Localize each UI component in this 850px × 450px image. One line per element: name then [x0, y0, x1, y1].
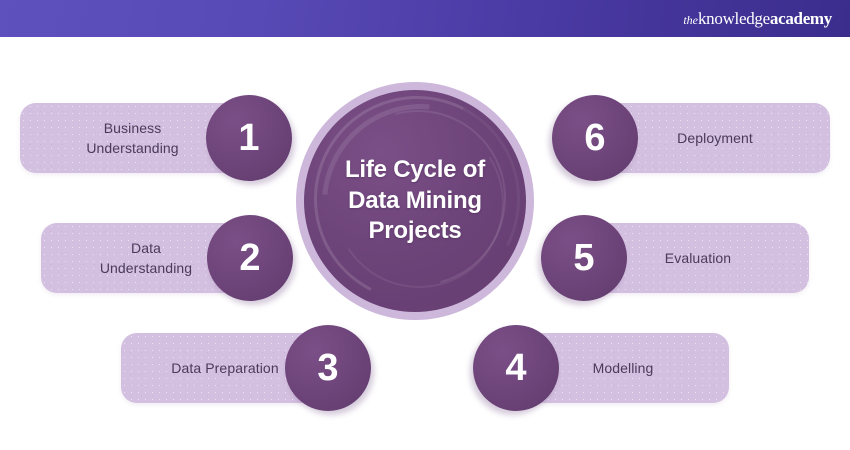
step-label-2-line-1: Data — [131, 240, 161, 256]
diagram-title-line-2: Data Mining — [348, 186, 482, 216]
step-badge-3[interactable]: 3 — [285, 325, 371, 411]
diagram-title: Life Cycle of Data Mining Projects — [304, 90, 526, 312]
step-badge-2[interactable]: 2 — [207, 215, 293, 301]
brand-logo: theknowledgeacademy — [683, 10, 832, 28]
step-item-3[interactable]: Data Preparation 3 — [121, 325, 371, 411]
step-item-2[interactable]: Data Understanding 2 — [41, 215, 293, 301]
diagram-canvas: Life Cycle of Data Mining Projects Busin… — [0, 37, 850, 450]
step-label-1-line-1: Business — [104, 120, 162, 136]
infographic-page: theknowledgeacademy Life Cycle of Data M… — [0, 0, 850, 450]
diagram-title-line-1: Life Cycle of — [345, 155, 485, 185]
step-label-1-line-2: Understanding — [86, 140, 178, 156]
diagram-title-line-3: Projects — [368, 216, 461, 246]
step-label-4-line-1: Modelling — [593, 360, 654, 376]
step-label-6-line-1: Deployment — [677, 130, 753, 146]
step-item-5[interactable]: Evaluation 5 — [541, 215, 809, 301]
center-hub: Life Cycle of Data Mining Projects — [296, 82, 534, 320]
step-badge-4[interactable]: 4 — [473, 325, 559, 411]
step-badge-6[interactable]: 6 — [552, 95, 638, 181]
brand-academy: academy — [770, 9, 832, 28]
step-label-5-line-1: Evaluation — [665, 250, 731, 266]
center-hub-inner: Life Cycle of Data Mining Projects — [304, 90, 526, 312]
brand-the: the — [683, 13, 698, 27]
header-bar: theknowledgeacademy — [0, 0, 850, 37]
step-item-4[interactable]: Modelling 4 — [473, 325, 729, 411]
brand-knowledge: knowledge — [698, 9, 770, 28]
step-label-2-line-2: Understanding — [100, 260, 192, 276]
step-badge-5[interactable]: 5 — [541, 215, 627, 301]
step-item-1[interactable]: Business Understanding 1 — [20, 95, 292, 181]
step-item-6[interactable]: Deployment 6 — [552, 95, 830, 181]
step-label-3-line-1: Data Preparation — [171, 360, 278, 376]
step-badge-1[interactable]: 1 — [206, 95, 292, 181]
